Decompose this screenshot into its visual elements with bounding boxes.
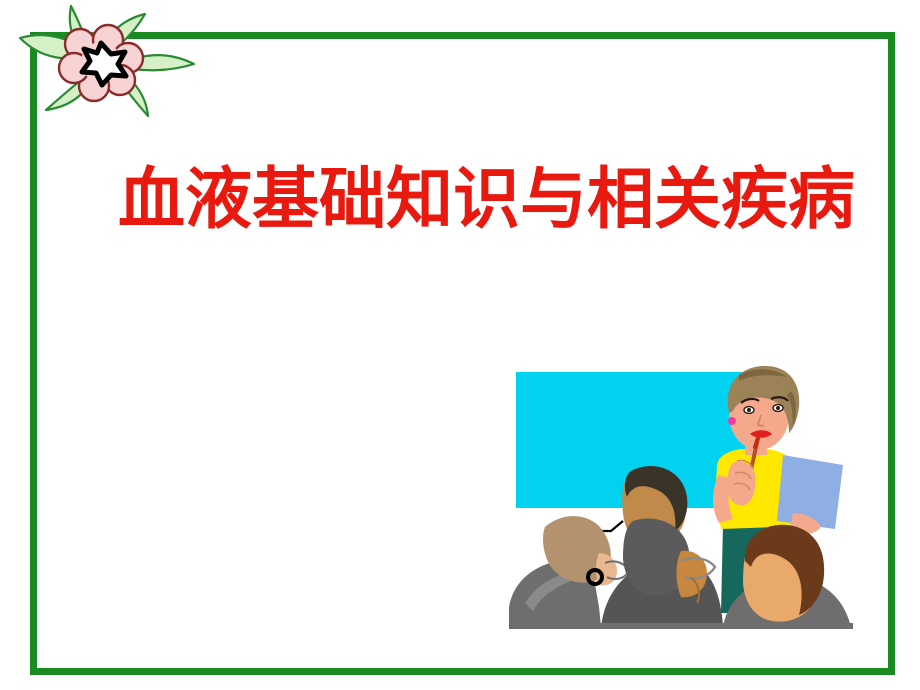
presentation-slide: 血液基础知识与相关疾病 bbox=[0, 0, 920, 690]
presenter-earring bbox=[728, 417, 736, 425]
presentation-meeting-clipart bbox=[505, 355, 865, 640]
illustration-base bbox=[509, 623, 853, 629]
page-title: 血液基础知识与相关疾病 bbox=[118, 160, 808, 238]
corner-flower-icon bbox=[8, 2, 198, 120]
